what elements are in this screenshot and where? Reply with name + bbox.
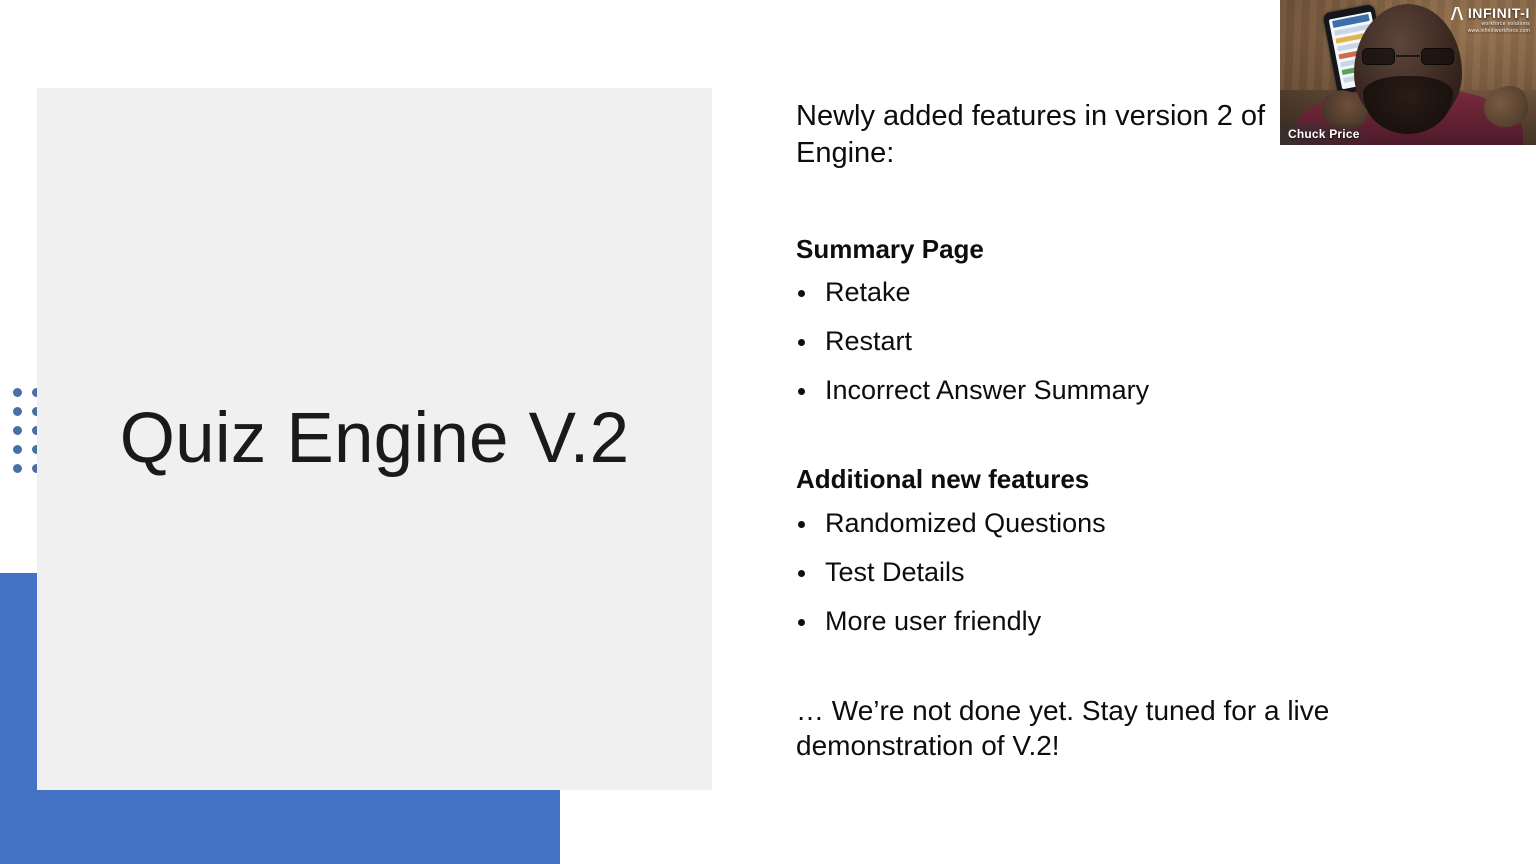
logo-lockup: INFINIT-I	[1452, 6, 1530, 20]
slide-content-column: Newly added features in version 2 of Eng…	[796, 98, 1436, 792]
infiniti-logo-watermark: INFINIT-I workforce solutions www.infini…	[1452, 6, 1530, 34]
glasses-bridge	[1396, 55, 1420, 57]
slide-title: Quiz Engine V.2	[120, 400, 630, 478]
bullet-icon	[798, 388, 805, 395]
presentation-slide: Quiz Engine V.2 Newly added features in …	[0, 0, 1536, 864]
section-heading: Additional new features	[796, 464, 1436, 495]
list-item: Restart	[796, 328, 1436, 355]
glasses-icon	[1362, 48, 1454, 65]
dot	[13, 388, 22, 397]
feature-list: Retake Restart Incorrect Answer Summary	[796, 279, 1436, 404]
dot	[13, 445, 22, 454]
bullet-icon	[798, 521, 805, 528]
glasses-left-lens	[1362, 48, 1395, 65]
logo-tagline: workforce solutions	[1452, 22, 1530, 27]
speaker-name-label: Chuck Price	[1280, 124, 1368, 145]
logo-url: www.infinitiworkforce.com	[1452, 29, 1530, 34]
list-item: Incorrect Answer Summary	[796, 377, 1436, 404]
feature-list: Randomized Questions Test Details More u…	[796, 510, 1436, 635]
list-item-label: Randomized Questions	[825, 508, 1106, 538]
bullet-icon	[798, 290, 805, 297]
bullet-icon	[798, 619, 805, 626]
bullet-icon	[798, 570, 805, 577]
list-item-label: Restart	[825, 326, 912, 356]
list-item: Retake	[796, 279, 1436, 306]
list-item: More user friendly	[796, 608, 1436, 635]
section-heading: Summary Page	[796, 234, 1436, 265]
slide-title-panel: Quiz Engine V.2	[37, 88, 712, 790]
list-item-label: Incorrect Answer Summary	[825, 375, 1149, 405]
speaker-video-overlay[interactable]: INFINIT-I workforce solutions www.infini…	[1280, 0, 1536, 145]
bullet-icon	[798, 339, 805, 346]
section-additional-features: Additional new features Randomized Quest…	[796, 464, 1436, 634]
logo-name: INFINIT-I	[1468, 6, 1530, 20]
list-item-label: More user friendly	[825, 606, 1041, 636]
intro-text: Newly added features in version 2 of Eng…	[796, 98, 1286, 172]
outro-text: … We’re not done yet. Stay tuned for a l…	[796, 693, 1361, 765]
section-summary-page: Summary Page Retake Restart Incorrect An…	[796, 234, 1436, 404]
list-item: Randomized Questions	[796, 510, 1436, 537]
dot	[13, 464, 22, 473]
dot	[13, 426, 22, 435]
glasses-right-lens	[1421, 48, 1454, 65]
list-item: Test Details	[796, 559, 1436, 586]
list-item-label: Test Details	[825, 557, 965, 587]
dot	[13, 407, 22, 416]
infiniti-mark-icon	[1452, 7, 1465, 20]
list-item-label: Retake	[825, 277, 911, 307]
